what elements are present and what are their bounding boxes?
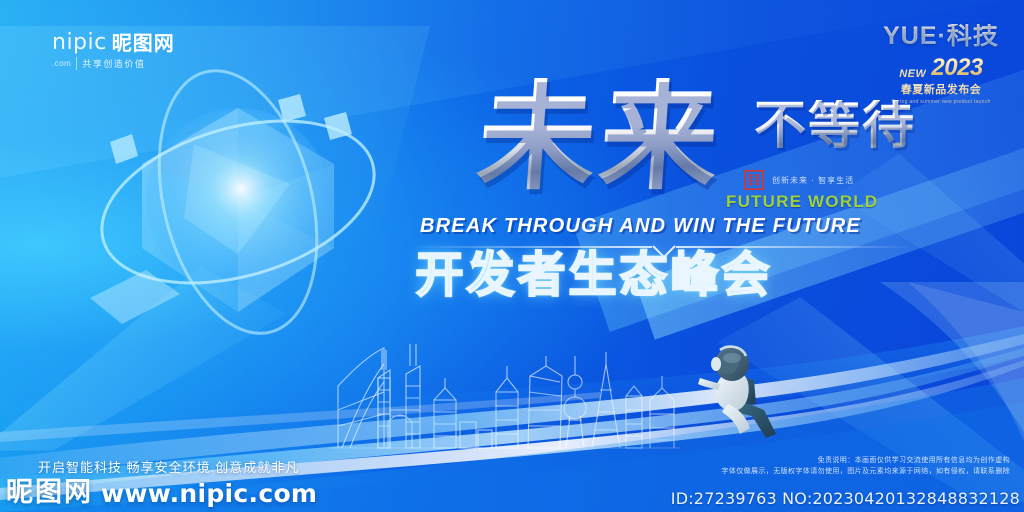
footer-slogan: 开启智能科技 畅享安全环境 创意成就非凡: [38, 457, 299, 476]
nipic-domain-text: .com: [52, 59, 71, 68]
footer-brand: 昵图网 www.nipic.com: [6, 479, 317, 506]
running-astronaut-icon: [692, 342, 784, 442]
footer-url: www.nipic.com: [101, 481, 317, 506]
footer-brand-cn: 昵图网: [6, 479, 93, 506]
red-seal-icon: [744, 170, 764, 190]
disclaimer-line-2: 字体仅做展示，无版权字体请勿使用，图片及元素均来源于网络，如有侵权，请联系删除: [680, 467, 1010, 478]
disclaimer-line-1: 免责说明：本画面仅供学习交流使用所有信息均为创作虚构: [680, 456, 1010, 467]
divider-left: [415, 246, 652, 248]
headline-main: 未来: [474, 78, 726, 196]
event-subtitle: 开发者生态峰会: [404, 250, 784, 303]
headline-brand-en: FUTURE WORLD: [726, 192, 878, 212]
nipic-watermark-logo: nipic 昵图网 .com 共享创造价值: [52, 32, 202, 70]
strapline-block: BREAK THROUGH AND WIN THE FUTURE: [420, 215, 860, 238]
poster-canvas: nipic 昵图网 .com 共享创造价值 YUE·科技 NEW 2023 春夏…: [0, 0, 1024, 512]
headline-secondary: 不等待: [754, 100, 916, 152]
asset-id-text: ID:27239763 NO:20230420132848832128: [671, 489, 1020, 508]
strapline-en: BREAK THROUGH AND WIN THE FUTURE: [420, 215, 860, 238]
nipic-slogan-text: 共享创造价值: [76, 57, 145, 70]
divider-right: [676, 246, 913, 248]
brand-name: YUE·科技: [876, 24, 1006, 49]
disclaimer-block: 免责说明：本画面仅供学习交流使用所有信息均为创作虚构 字体仅做展示，无版权字体请…: [680, 456, 1010, 478]
headline-slogan-cn: 创新未来 · 智享生活: [772, 175, 854, 186]
seal-slogan-row: 创新未来 · 智享生活: [744, 170, 854, 190]
brand-year: 2023: [931, 56, 982, 80]
nipic-latin-text: nipic: [52, 32, 107, 54]
nipic-cjk-text: 昵图网: [112, 34, 175, 54]
